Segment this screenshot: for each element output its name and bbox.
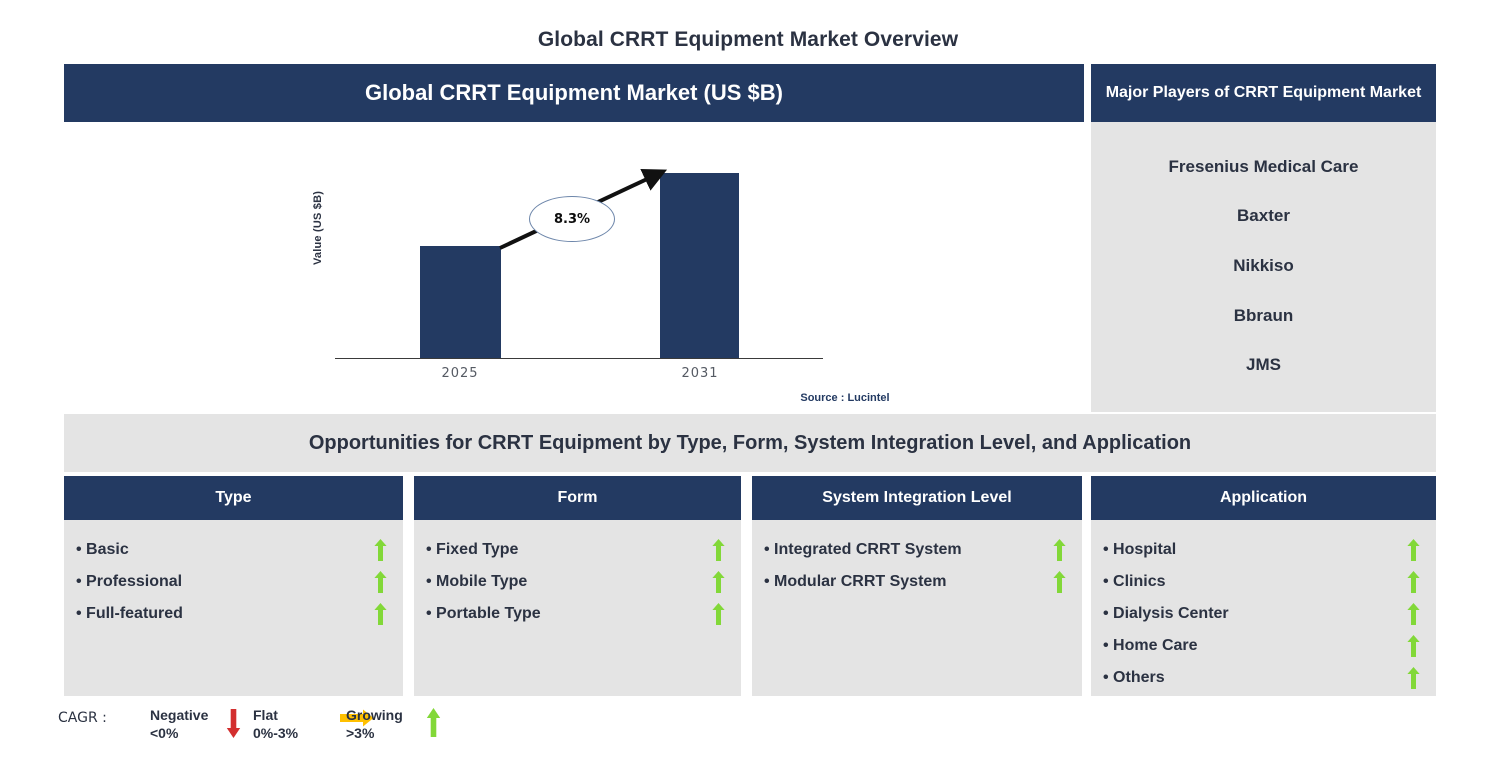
segment-column-system-integration-level: System Integration Level • Integrated CR…	[752, 476, 1082, 696]
list-item: • Professional	[76, 566, 391, 598]
cagr-value-bubble: 8.3%	[529, 196, 615, 242]
arrow-up-green-icon	[1048, 539, 1070, 561]
list-item: • Basic	[76, 534, 391, 566]
segment-column-application: Application • Hospital • Clinics • Dialy…	[1091, 476, 1436, 696]
bar-2025	[420, 246, 501, 358]
list-item: JMS	[1097, 340, 1430, 390]
list-item: • Hospital	[1103, 534, 1424, 566]
arrow-up-green-icon	[1402, 571, 1424, 593]
arrow-up-green-icon	[369, 539, 391, 561]
arrow-up-green-icon	[1402, 635, 1424, 657]
cagr-legend: CAGR : Negative <0% Flat 0%-3% Growing >…	[58, 706, 658, 756]
legend-entry-growing: Growing >3%	[346, 706, 403, 742]
x-tick-label-2025: 2025	[400, 366, 520, 381]
chart-y-axis-label: Value (US $B)	[312, 176, 328, 280]
list-item: Nikkiso	[1097, 241, 1430, 291]
segment-header-type: Type	[64, 476, 403, 520]
legend-entry-negative: Negative <0%	[150, 706, 208, 742]
segment-header-application: Application	[1091, 476, 1436, 520]
segment-item-label: • Portable Type	[426, 605, 541, 623]
list-item: Fresenius Medical Care	[1097, 142, 1430, 192]
legend-entry-name: Flat	[253, 706, 298, 724]
list-item: • Others	[1103, 662, 1424, 694]
segment-body-system-integration-level: • Integrated CRRT System • Modular CRRT …	[752, 520, 1082, 696]
legend-entry-range: >3%	[346, 724, 403, 742]
segment-item-label: • Dialysis Center	[1103, 605, 1229, 623]
list-item: • Dialysis Center	[1103, 598, 1424, 630]
segment-item-label: • Integrated CRRT System	[764, 541, 962, 559]
segment-header-label: Form	[558, 489, 598, 507]
arrow-up-green-icon	[426, 708, 441, 743]
opportunities-band: Opportunities for CRRT Equipment by Type…	[64, 414, 1436, 472]
segment-item-label: • Others	[1103, 669, 1165, 687]
legend-entry-range: 0%-3%	[253, 724, 298, 742]
list-item: Bbraun	[1097, 291, 1430, 341]
opportunities-band-title: Opportunities for CRRT Equipment by Type…	[309, 432, 1191, 455]
list-item: • Fixed Type	[426, 534, 729, 566]
list-item: • Home Care	[1103, 630, 1424, 662]
arrow-up-green-icon	[707, 571, 729, 593]
legend-entry-name: Negative	[150, 706, 208, 724]
list-item: • Clinics	[1103, 566, 1424, 598]
segment-header-label: Application	[1220, 489, 1307, 507]
legend-entry-range: <0%	[150, 724, 208, 742]
cagr-value-text: 8.3%	[554, 212, 590, 227]
chart-x-axis-line	[335, 358, 823, 359]
arrow-up-green-icon	[1402, 539, 1424, 561]
arrow-up-green-icon	[1402, 667, 1424, 689]
segment-header-label: System Integration Level	[822, 489, 1011, 507]
segment-body-application: • Hospital • Clinics • Dialysis Center •…	[1091, 520, 1436, 696]
segment-body-form: • Fixed Type • Mobile Type • Portable Ty…	[414, 520, 741, 696]
segment-column-form: Form • Fixed Type • Mobile Type • Portab…	[414, 476, 741, 696]
cagr-legend-title: CAGR :	[58, 710, 107, 726]
chart-source-note: Source : Lucintel	[720, 392, 970, 404]
list-item: • Portable Type	[426, 598, 729, 630]
segment-item-label: • Modular CRRT System	[764, 573, 947, 591]
major-players-header: Major Players of CRRT Equipment Market	[1091, 64, 1436, 122]
segment-header-form: Form	[414, 476, 741, 520]
major-players-header-title: Major Players of CRRT Equipment Market	[1106, 83, 1422, 103]
x-tick-label-2031: 2031	[640, 366, 760, 381]
segment-column-type: Type • Basic • Professional • Full-featu…	[64, 476, 403, 696]
segment-item-label: • Mobile Type	[426, 573, 527, 591]
segment-item-label: • Full-featured	[76, 605, 183, 623]
legend-entry-name: Growing	[346, 706, 403, 724]
arrow-up-green-icon	[369, 603, 391, 625]
arrow-down-red-icon	[226, 708, 241, 743]
list-item: • Full-featured	[76, 598, 391, 630]
segment-item-label: • Home Care	[1103, 637, 1198, 655]
chart-header-title: Global CRRT Equipment Market (US $B)	[365, 80, 783, 106]
arrow-up-green-icon	[1402, 603, 1424, 625]
segment-item-label: • Fixed Type	[426, 541, 518, 559]
arrow-up-green-icon	[369, 571, 391, 593]
list-item: • Mobile Type	[426, 566, 729, 598]
segment-item-label: • Basic	[76, 541, 129, 559]
segment-item-label: • Hospital	[1103, 541, 1176, 559]
chart-header-bar: Global CRRT Equipment Market (US $B)	[64, 64, 1084, 122]
list-item: • Modular CRRT System	[764, 566, 1070, 598]
segment-item-label: • Professional	[76, 573, 182, 591]
segment-body-type: • Basic • Professional • Full-featured	[64, 520, 403, 696]
major-players-list: Fresenius Medical Care Baxter Nikkiso Bb…	[1091, 130, 1436, 408]
arrow-up-green-icon	[1048, 571, 1070, 593]
list-item: Baxter	[1097, 192, 1430, 242]
segment-item-label: • Clinics	[1103, 573, 1166, 591]
arrow-up-green-icon	[707, 539, 729, 561]
legend-entry-flat: Flat 0%-3%	[253, 706, 298, 742]
arrow-up-green-icon	[707, 603, 729, 625]
page-title: Global CRRT Equipment Market Overview	[0, 28, 1496, 52]
segment-header-system-integration-level: System Integration Level	[752, 476, 1082, 520]
segment-header-label: Type	[215, 489, 251, 507]
list-item: • Integrated CRRT System	[764, 534, 1070, 566]
